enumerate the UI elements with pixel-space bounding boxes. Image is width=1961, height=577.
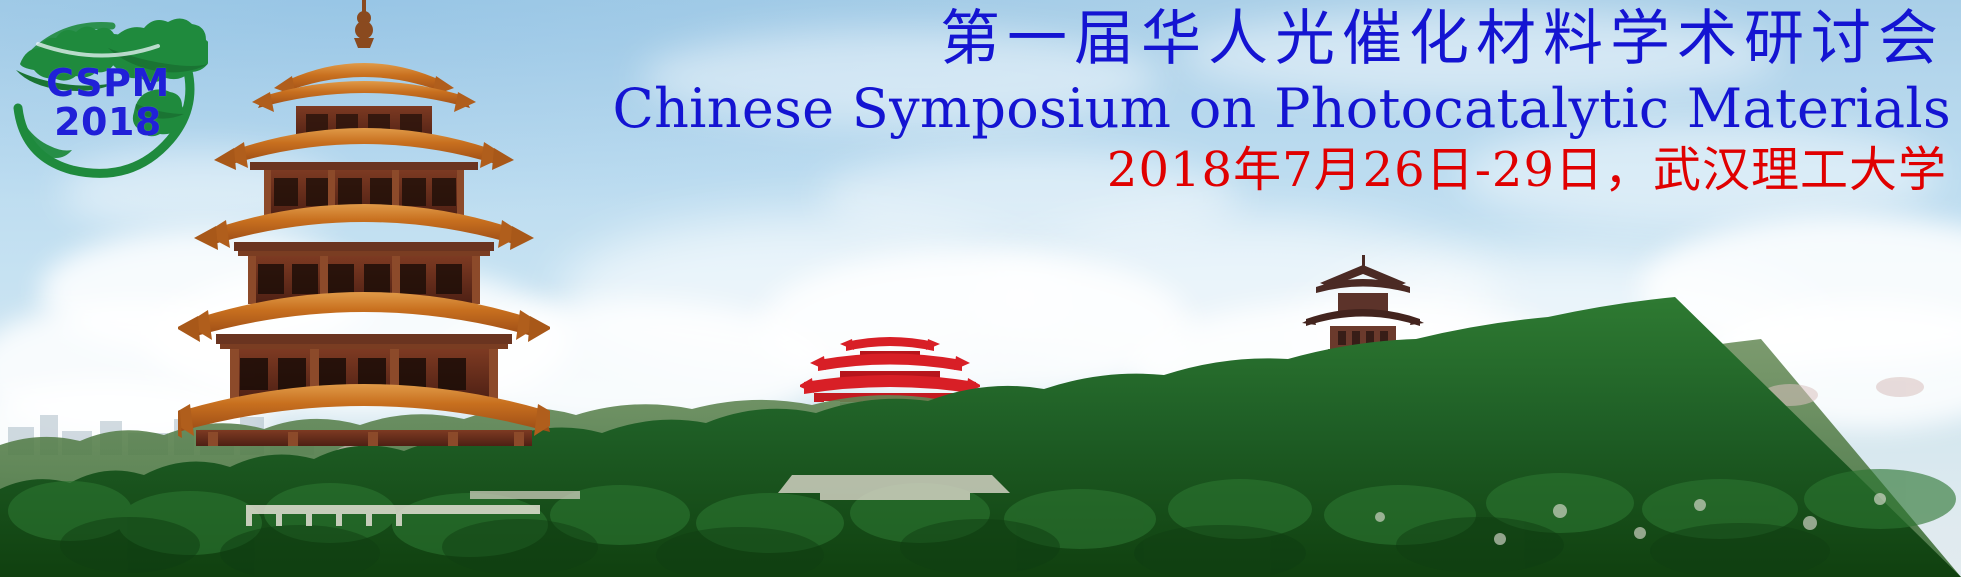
date-venue-line: 2018年7月26日-29日，武汉理工大学 bbox=[500, 140, 1951, 200]
yellow-crane-tower bbox=[178, 0, 550, 446]
conference-banner: CSPM 2018 第一届华人光催化材料学术研讨会 Chinese Sympos… bbox=[0, 0, 1961, 577]
logo-year: 2018 bbox=[8, 103, 208, 142]
title-block: 第一届华人光催化材料学术研讨会 Chinese Symposium on Pho… bbox=[500, 0, 1961, 200]
english-title: Chinese Symposium on Photocatalytic Mate… bbox=[500, 78, 1951, 140]
chinese-title: 第一届华人光催化材料学术研讨会 bbox=[500, 0, 1951, 78]
logo-acronym: CSPM bbox=[8, 64, 208, 103]
logo-text: CSPM 2018 bbox=[8, 64, 208, 142]
cspm-2018-logo: CSPM 2018 bbox=[8, 8, 208, 180]
